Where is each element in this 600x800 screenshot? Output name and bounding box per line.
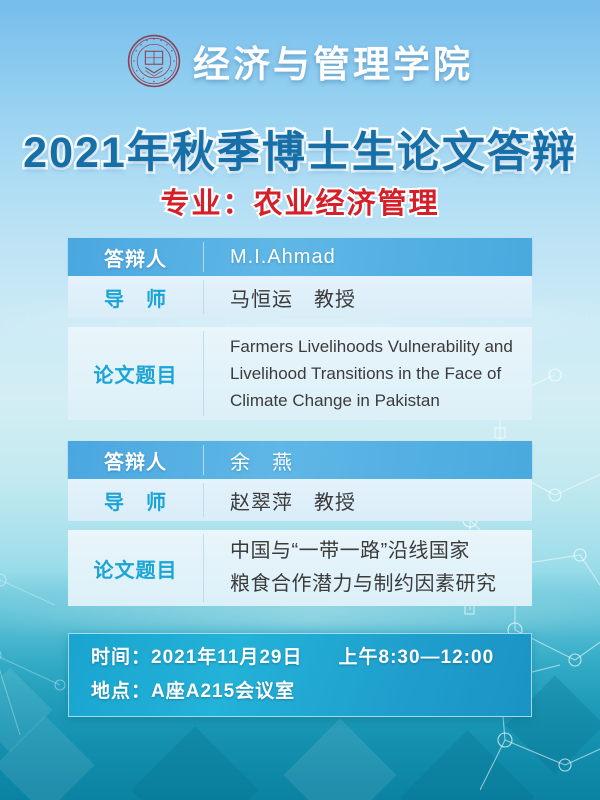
thesis-line: Climate Change in Pakistan (230, 387, 440, 414)
diamond-shape-3 (283, 718, 396, 800)
advisor-label: 导 师 (68, 276, 203, 318)
diamond-shape-2 (131, 726, 258, 800)
university-seal-icon (127, 34, 181, 88)
candidate-card-2: 答辩人 余 燕 导 师 赵翠萍 教授 论文题目 中国与“一带一路”沿线国家 粮食… (68, 441, 532, 606)
thesis-value: Farmers Livelihoods Vulnerability and Li… (204, 327, 532, 420)
candidate-name-row: 答辩人 余 燕 (68, 441, 532, 479)
advisor-row: 导 师 马恒运 教授 (68, 276, 532, 318)
diamond-shape-4 (400, 730, 534, 800)
diamond-shape-5 (0, 668, 52, 753)
thesis-line: Farmers Livelihoods Vulnerability and (230, 333, 513, 360)
main-title: 2021年秋季博士生论文答辩 (0, 118, 600, 180)
candidate-card-1: 答辩人 M.I.Ahmad 导 师 马恒运 教授 论文题目 Farmers Li… (68, 238, 532, 420)
thesis-value: 中国与“一带一路”沿线国家 粮食合作潜力与制约因素研究 (204, 530, 532, 606)
advisor-value: 赵翠萍 教授 (204, 479, 532, 521)
place-value: A座A215会议室 (151, 681, 295, 702)
candidate-name-value: 余 燕 (204, 441, 532, 479)
candidate-name-value: M.I.Ahmad (204, 238, 532, 276)
thesis-label: 论文题目 (68, 530, 203, 606)
place-label: 地点： (91, 681, 151, 702)
thesis-label: 论文题目 (68, 327, 203, 420)
time-range: 上午8:30—12:00 (339, 647, 495, 668)
candidate-label: 答辩人 (68, 238, 203, 276)
thesis-row: 论文题目 Farmers Livelihoods Vulnerability a… (68, 327, 532, 420)
sub-title-major: 专业：农业经济管理 (0, 180, 600, 222)
advisor-label: 导 师 (68, 479, 203, 521)
poster-header: 经济与管理学院 (0, 34, 600, 88)
event-time-line: 时间：2021年11月29日上午8:30—12:00 (91, 641, 531, 675)
advisor-row: 导 师 赵翠萍 教授 (68, 479, 532, 521)
poster-canvas: 经济与管理学院 2021年秋季博士生论文答辩 专业：农业经济管理 答辩人 M.I… (0, 0, 600, 800)
event-info-box: 时间：2021年11月29日上午8:30—12:00 地点：A座A215会议室 (68, 633, 532, 717)
thesis-row: 论文题目 中国与“一带一路”沿线国家 粮食合作潜力与制约因素研究 (68, 530, 532, 606)
event-place-line: 地点：A座A215会议室 (91, 675, 531, 709)
school-name: 经济与管理学院 (193, 34, 473, 88)
time-label: 时间： (91, 647, 151, 668)
diamond-shape-1 (0, 716, 94, 800)
thesis-line: Livelihood Transitions in the Face of (230, 360, 501, 387)
candidate-label: 答辩人 (68, 441, 203, 479)
advisor-value: 马恒运 教授 (204, 276, 532, 318)
candidate-name-row: 答辩人 M.I.Ahmad (68, 238, 532, 276)
thesis-line: 粮食合作潜力与制约因素研究 (230, 568, 497, 601)
thesis-line: 中国与“一带一路”沿线国家 (230, 535, 470, 568)
time-date: 2021年11月29日 (151, 647, 303, 668)
